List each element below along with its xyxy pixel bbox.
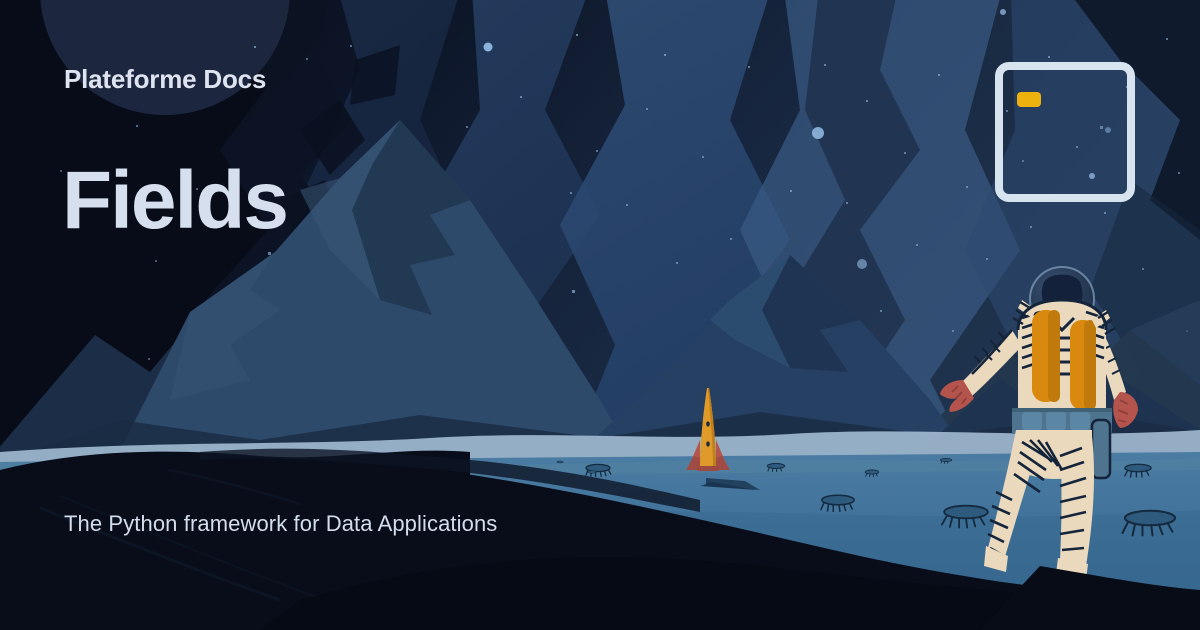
plateforme-logo-icon — [995, 62, 1135, 202]
banner-stage: Plateforme Docs Fields The Python framew… — [0, 0, 1200, 630]
plateforme-logo-chip-icon — [1017, 92, 1041, 107]
